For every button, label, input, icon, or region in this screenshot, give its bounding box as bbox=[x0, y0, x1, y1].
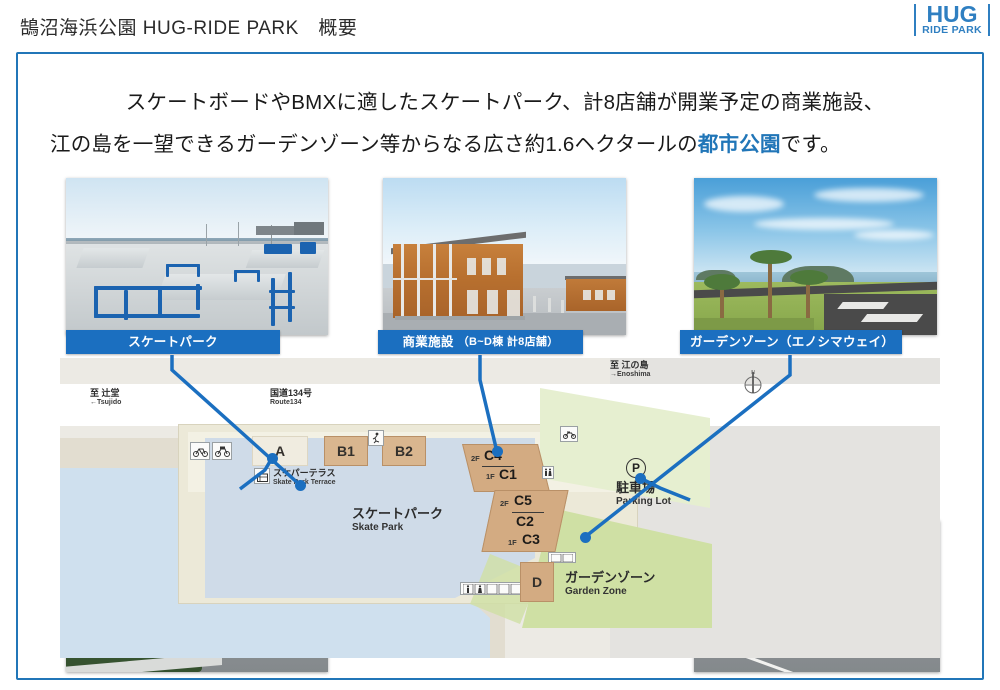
map-label-garden-zone: ガーデンゾーン Garden Zone bbox=[565, 570, 655, 598]
map-building-A: A bbox=[252, 436, 308, 466]
map-point-skate-park bbox=[295, 480, 306, 491]
map-route-134-road bbox=[60, 384, 940, 426]
cycle-port-icon bbox=[212, 442, 232, 460]
map-floor-1F-C3: 1F bbox=[508, 538, 517, 547]
map-building-C3: C3 bbox=[522, 531, 540, 547]
callout-skate-park: スケートパーク bbox=[66, 330, 280, 354]
lead-paragraph: スケートボードやBMXに適したスケートパーク、計8店舗が開業予定の商業施設、 江… bbox=[50, 82, 960, 166]
terrace-icon bbox=[254, 468, 270, 484]
map-point-garden-zone bbox=[580, 532, 591, 543]
park-site-map: 至 辻堂 ←Tsujido 国道134号 Route134 至 江の島 →Eno… bbox=[60, 358, 940, 658]
map-label-skate-park: スケートパーク Skate Park bbox=[352, 506, 443, 534]
map-point-parking bbox=[635, 473, 646, 484]
map-point-cycle-port bbox=[267, 453, 278, 464]
map-building-C1: C1 bbox=[499, 466, 517, 482]
map-building-D: D bbox=[520, 562, 554, 602]
motorbike-icon bbox=[560, 426, 578, 442]
logo-sub-text: RIDE PARK bbox=[916, 24, 988, 36]
photo-commercial-facility bbox=[383, 178, 626, 335]
logo-main-text: HUG bbox=[916, 4, 988, 24]
restroom-icon-c bbox=[542, 466, 554, 479]
map-label-parking: 駐車場 Parking Lot bbox=[616, 480, 671, 508]
callout-commercial-sub: （B~D棟 計8店舗） bbox=[458, 335, 559, 349]
map-floor-2F-C5: 2F bbox=[500, 499, 509, 508]
page-title: 鵠沼海浜公園 HUG-RIDE PARK 概要 bbox=[20, 13, 357, 40]
photo-skate-park bbox=[66, 178, 328, 335]
slide-root: 鵠沼海浜公園 HUG-RIDE PARK 概要 HUG RIDE PARK スケ… bbox=[0, 0, 1000, 690]
map-direction-enoshima: 至 江の島 →Enoshima bbox=[610, 360, 650, 380]
callout-commercial-main: 商業施設 bbox=[403, 334, 454, 350]
map-point-commercial bbox=[492, 446, 503, 457]
lead-line-2: 江の島を一望できるガーデンゾーン等からなる広さ約1.6ヘクタールの都市公園です。 bbox=[50, 124, 960, 166]
photo-garden-zone bbox=[694, 178, 937, 335]
map-building-B1: B1 bbox=[324, 436, 368, 466]
lead-line-2-b: です。 bbox=[781, 133, 841, 156]
lead-highlight-urban-park: 都市公園 bbox=[698, 133, 781, 156]
svg-text:N: N bbox=[751, 370, 755, 376]
map-building-C5: C5 bbox=[514, 492, 532, 508]
callout-garden-zone: ガーデンゾーン（エノシマウェイ） bbox=[680, 330, 902, 354]
bicycle-icon bbox=[190, 442, 210, 460]
hug-ride-park-logo: HUG RIDE PARK bbox=[914, 4, 990, 44]
map-building-C2: C2 bbox=[516, 513, 534, 529]
runner-icon bbox=[368, 430, 384, 446]
slide-header: 鵠沼海浜公園 HUG-RIDE PARK 概要 HUG RIDE PARK bbox=[0, 0, 1000, 48]
lead-line-1: スケートボードやBMXに適したスケートパーク、計8店舗が開業予定の商業施設、 bbox=[50, 82, 960, 124]
map-building-B2: B2 bbox=[382, 436, 426, 466]
map-floor-2F-C4: 2F bbox=[471, 454, 480, 463]
callout-commercial-facility: 商業施設 （B~D棟 計8店舗） bbox=[378, 330, 583, 354]
compass-rose-icon: N bbox=[740, 370, 766, 396]
map-route-134-label: 国道134号 Route134 bbox=[270, 388, 312, 408]
lead-line-2-a: 江の島を一望できるガーデンゾーン等からなる広さ約1.6ヘクタールの bbox=[50, 133, 698, 156]
map-direction-tsujido: 至 辻堂 ←Tsujido bbox=[90, 388, 121, 408]
map-floor-1F-C1: 1F bbox=[486, 472, 495, 481]
